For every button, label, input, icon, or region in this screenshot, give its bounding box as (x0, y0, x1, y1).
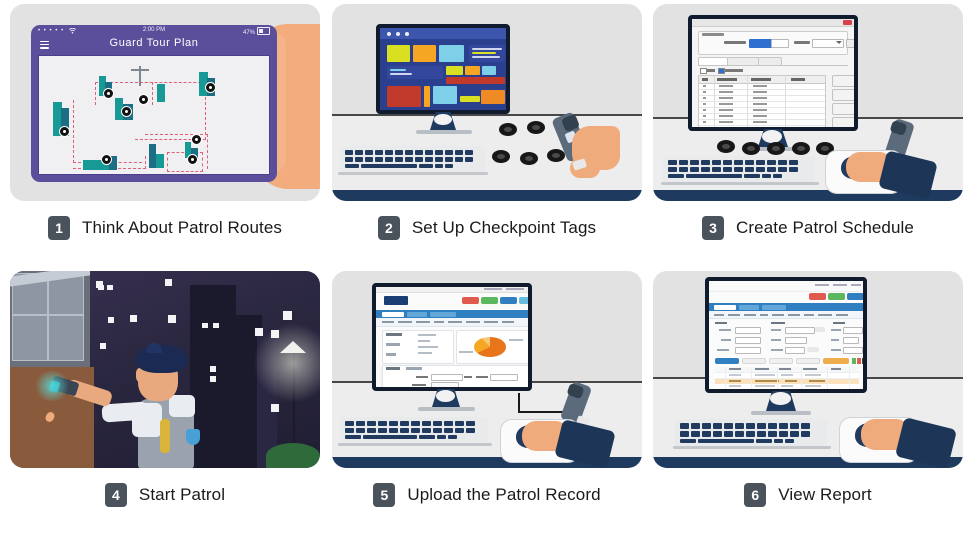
illustration-view-report (653, 271, 963, 468)
nav-tab-patrol-data[interactable] (407, 312, 427, 317)
step-card-5[interactable]: 5 Upload the Patrol Record (332, 271, 642, 508)
step-card-3[interactable]: 3 Create Patrol Schedule (653, 4, 963, 241)
toolbar-refresh-button[interactable] (715, 358, 739, 364)
map-checkpoint[interactable] (138, 94, 149, 105)
tablet-app-title: Guard Tour Plan (31, 37, 277, 49)
start-time-input[interactable] (785, 327, 815, 334)
rfid-checkpoint-tag[interactable] (520, 152, 538, 165)
battery-icon (257, 27, 270, 35)
plan-name-input[interactable] (749, 39, 773, 48)
dashboard-ui (380, 28, 506, 110)
header-button-print[interactable] (828, 293, 845, 300)
toolbar-filter-button[interactable] (742, 358, 766, 364)
report-app-ui (709, 281, 863, 389)
scanner-beam (34, 371, 70, 401)
step-card-2[interactable]: 2 Set Up Checkpoint Tags (332, 4, 642, 241)
step-label: Set Up Checkpoint Tags (412, 218, 596, 238)
map-checkpoint[interactable] (121, 106, 132, 117)
illustration-upload-record (332, 271, 642, 468)
window-dot (396, 32, 400, 36)
header-button-download[interactable] (462, 297, 479, 304)
rfid-checkpoint-tag[interactable] (767, 142, 785, 155)
header-button-settings[interactable] (500, 297, 517, 304)
report-filter-input[interactable] (735, 327, 761, 334)
illustration-schedule-software (653, 4, 963, 201)
step-caption-2: 2 Set Up Checkpoint Tags (332, 215, 642, 241)
delete-schedule-button[interactable] (832, 103, 854, 115)
monitor (376, 24, 510, 114)
step-caption-1: 1 Think About Patrol Routes (10, 215, 320, 241)
header-button-query[interactable] (847, 293, 863, 300)
checkbox-add-time[interactable] (718, 68, 725, 74)
end-time-input[interactable] (785, 337, 807, 344)
rfid-checkpoint-tag[interactable] (792, 142, 810, 155)
patrol-map-canvas[interactable] (38, 55, 270, 175)
step-label: Upload the Patrol Record (407, 485, 600, 505)
tablet-clock: 2:00 PM (31, 27, 277, 33)
window-dot (387, 32, 391, 36)
monitor-screen[interactable] (692, 19, 854, 127)
step-number-badge: 3 (702, 216, 724, 240)
monitor (372, 283, 532, 391)
map-checkpoint[interactable] (59, 126, 70, 137)
close-icon[interactable] (843, 20, 852, 25)
batch-settings-button[interactable] (832, 117, 854, 127)
schedule-table[interactable] (698, 75, 826, 127)
monitor (705, 277, 867, 393)
rfid-checkpoint-tag[interactable] (492, 150, 510, 163)
toolbar-search-button[interactable] (796, 358, 820, 364)
web-sub-nav[interactable] (376, 318, 528, 327)
end-date-input[interactable] (846, 39, 854, 48)
map-checkpoint[interactable] (101, 154, 112, 165)
end-time-input[interactable] (490, 374, 518, 381)
rfid-checkpoint-tag[interactable] (547, 149, 565, 162)
tablet-status-bar: • • • • • 2:00 PM 47% (31, 25, 277, 36)
illustration-guard-night (10, 271, 320, 468)
rfid-checkpoint-tag[interactable] (742, 142, 760, 155)
monitor-screen[interactable] (376, 287, 528, 387)
guard-beret (136, 345, 188, 373)
tablet-device: • • • • • 2:00 PM 47% Guard Tour Plan (31, 25, 277, 182)
nav-tab-patrol-data[interactable] (739, 305, 759, 310)
report-table[interactable] (715, 367, 859, 389)
app-logo (384, 296, 408, 305)
step-number-badge: 2 (378, 216, 400, 240)
nav-tab-data-upload[interactable] (382, 312, 404, 317)
toolbar-highlight[interactable] (823, 358, 849, 364)
nav-tab-data-query[interactable] (714, 305, 736, 310)
rfid-checkpoint-tag[interactable] (717, 140, 735, 153)
header-button-upload[interactable] (481, 297, 498, 304)
step-label: Start Patrol (139, 485, 225, 505)
map-checkpoint[interactable] (191, 134, 202, 145)
schedule-software-window (692, 19, 854, 127)
checkbox-any[interactable] (700, 68, 707, 74)
map-checkpoint[interactable] (103, 88, 114, 99)
map-checkpoint[interactable] (205, 82, 216, 93)
table-row[interactable] (699, 125, 825, 127)
step-number-badge: 4 (105, 483, 127, 507)
step-caption-3: 3 Create Patrol Schedule (653, 215, 963, 241)
window-dot (405, 32, 409, 36)
step-label: Create Patrol Schedule (736, 218, 914, 238)
step-caption-5: 5 Upload the Patrol Record (332, 482, 642, 508)
steps-grid: • • • • • 2:00 PM 47% Guard Tour Plan (0, 0, 970, 545)
step-label: Think About Patrol Routes (82, 218, 282, 238)
nav-tab-data-management[interactable] (430, 312, 456, 317)
header-button-help[interactable] (519, 297, 528, 304)
monitor-screen[interactable] (709, 281, 863, 389)
step-card-1[interactable]: • • • • • 2:00 PM 47% Guard Tour Plan (10, 4, 320, 241)
dashboard-titlebar (380, 28, 506, 39)
usb-cable (518, 393, 520, 413)
web-app-ui (376, 287, 528, 387)
step-card-4[interactable]: 4 Start Patrol (10, 271, 320, 508)
edit-schedule-button[interactable] (832, 89, 854, 101)
add-schedule-button[interactable] (832, 75, 854, 87)
map-checkpoint[interactable] (187, 154, 198, 165)
nav-tab-plan-schedule[interactable] (762, 305, 786, 310)
header-button-export[interactable] (809, 293, 826, 300)
rfid-checkpoint-tag[interactable] (527, 121, 545, 134)
report-filter-input[interactable] (735, 347, 761, 354)
tablet-battery: 47% (243, 27, 270, 36)
step-caption-6: 6 View Report (653, 482, 963, 508)
window-titlebar (692, 19, 854, 27)
keyboard[interactable] (340, 417, 488, 443)
patrol-pie-chart[interactable] (474, 337, 506, 357)
illustration-tablet-map: • • • • • 2:00 PM 47% Guard Tour Plan (10, 4, 320, 201)
rfid-checkpoint-tag[interactable] (499, 123, 517, 136)
monitor (688, 15, 858, 131)
report-sub-nav[interactable] (709, 311, 863, 319)
web-nav-bar[interactable] (376, 310, 528, 318)
device-no-input[interactable] (431, 382, 459, 387)
step-card-6[interactable]: 6 View Report (653, 271, 963, 508)
step-number-badge: 1 (48, 216, 70, 240)
start-time-input[interactable] (431, 374, 463, 381)
keyboard[interactable] (675, 419, 827, 446)
report-nav-bar[interactable] (709, 303, 863, 311)
step-label: View Report (778, 485, 871, 505)
step-number-badge: 5 (373, 483, 395, 507)
toolbar-export-button[interactable] (769, 358, 793, 364)
keyboard[interactable] (663, 156, 815, 182)
step-caption-4: 4 Start Patrol (10, 482, 320, 508)
illustration-desktop-tags (332, 4, 642, 201)
keyboard[interactable] (340, 146, 485, 172)
report-filter-input[interactable] (735, 337, 761, 344)
step-number-badge: 6 (744, 483, 766, 507)
chevron-down-icon (836, 41, 842, 44)
monitor-screen[interactable] (380, 28, 506, 110)
